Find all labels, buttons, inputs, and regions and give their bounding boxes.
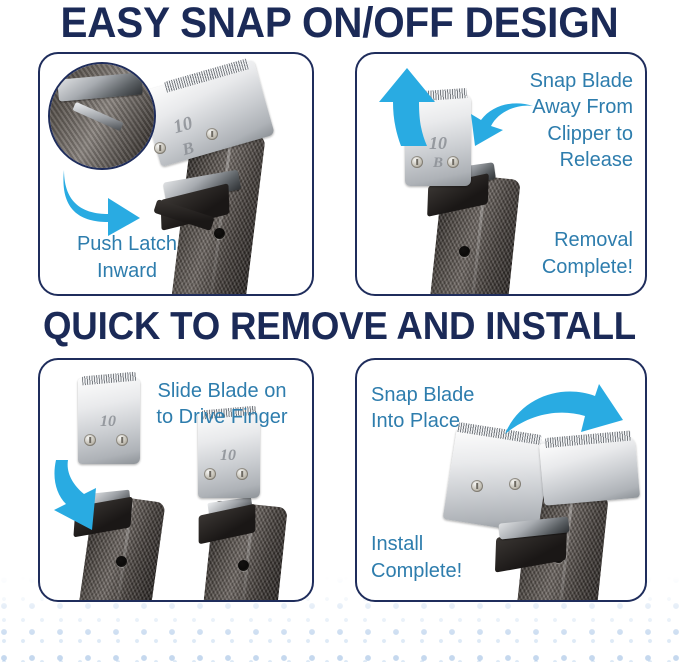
blade-screw-right [447,156,459,168]
page-title-secondary: QUICK TO REMOVE AND INSTALL [20,307,658,346]
step-panel-push-latch: 10 B Push Latch Inward [38,52,314,296]
curved-arrow-right-icon [58,164,144,236]
clipper-body-hole [214,228,225,239]
clipper-body-hole [459,246,470,257]
clipper-blade-detached [78,378,140,464]
magnifier-inset-latch-detail [48,62,156,170]
step-panel-snap-blade-away: 10 B Snap Blade Away From Clipper to Rel… [355,52,647,296]
blade-screw-left [471,480,483,492]
page-title-primary: EASY SNAP ON/OFF DESIGN [20,2,658,45]
clipper-body-hole [238,560,249,571]
blade-screw-left [154,142,166,154]
clipper-illustration-3-right: 10 [168,408,314,602]
down-arrow-icon [46,460,104,530]
step-panel-snap-into-place: Snap Blade Into Place Install Complete! [355,358,647,602]
blade-screw-left [84,434,96,446]
panel-2-caption-status: Removal Complete! [473,227,633,280]
blade-screw-right [236,468,248,480]
curved-arrow-left-icon [469,102,535,160]
panel-3-caption: Slide Blade on to Drive Finger [142,378,302,431]
up-arrow-icon [379,68,435,146]
blade-screw-right [509,478,521,490]
curved-arrow-down-right-icon [503,386,623,468]
panel-4-caption-status: Install Complete! [371,531,516,584]
panel-1-caption: Push Latch Inward [52,231,202,284]
blade-screw-left [204,468,216,480]
step-panel-slide-blade: 10 10 Slide Blade on to Drive Finger [38,358,314,602]
clipper-body-hole [116,556,127,567]
panel-4-caption-primary: Snap Blade Into Place [371,382,516,435]
blade-screw-right [206,128,218,140]
blade-screw-left [411,156,423,168]
blade-screw-right [116,434,128,446]
